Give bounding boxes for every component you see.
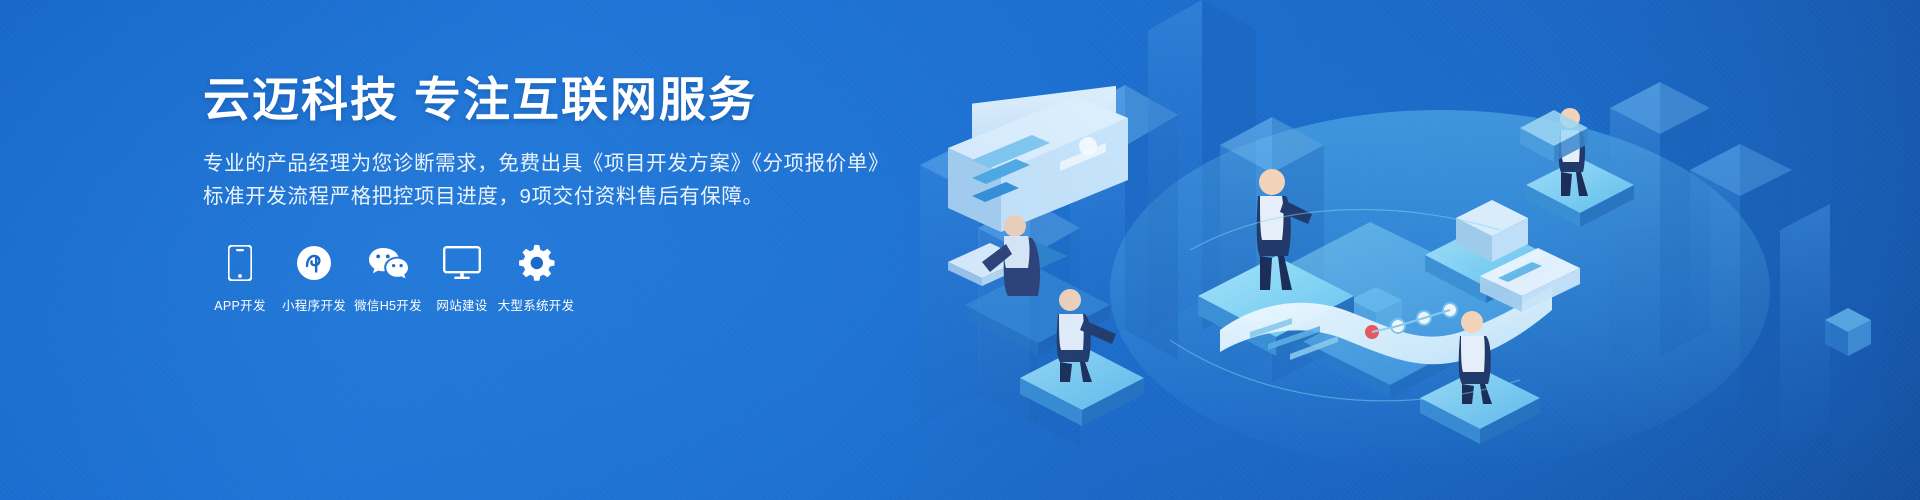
wechat-icon: [368, 243, 408, 283]
subtitle-line-1: 专业的产品经理为您诊断需求，免费出具《项目开发方案》《分项报价单》: [203, 147, 923, 180]
service-item-mini-program[interactable]: 小程序开发: [277, 243, 351, 314]
subtitle-line-2: 标准开发流程严格把控项目进度，9项交付资料售后有保障。: [203, 180, 923, 213]
service-item-wechat-h5[interactable]: 微信H5开发: [351, 243, 425, 314]
monitor-icon: [443, 243, 481, 283]
service-label: APP开发: [214, 295, 266, 314]
service-item-website[interactable]: 网站建设: [425, 243, 499, 314]
service-label: 大型系统开发: [498, 295, 575, 314]
hero-banner: 云迈科技 专注互联网服务 专业的产品经理为您诊断需求，免费出具《项目开发方案》《…: [0, 0, 1920, 500]
service-label: 网站建设: [436, 295, 487, 314]
hero-subtitle: 专业的产品经理为您诊断需求，免费出具《项目开发方案》《分项报价单》 标准开发流程…: [203, 147, 923, 213]
service-label: 小程序开发: [282, 295, 346, 314]
service-item-large-system[interactable]: 大型系统开发: [499, 243, 573, 314]
service-list: APP开发 小程序开发: [203, 243, 923, 314]
mobile-phone-icon: [228, 243, 252, 283]
mini-program-icon: [296, 243, 332, 283]
service-item-app[interactable]: APP开发: [203, 243, 277, 314]
page-title: 云迈科技 专注互联网服务: [203, 72, 923, 127]
gear-icon: [517, 243, 555, 283]
hero-content: 云迈科技 专注互联网服务 专业的产品经理为您诊断需求，免费出具《项目开发方案》《…: [203, 72, 923, 314]
service-label: 微信H5开发: [354, 295, 422, 314]
isometric-illustration: [920, 0, 1920, 500]
